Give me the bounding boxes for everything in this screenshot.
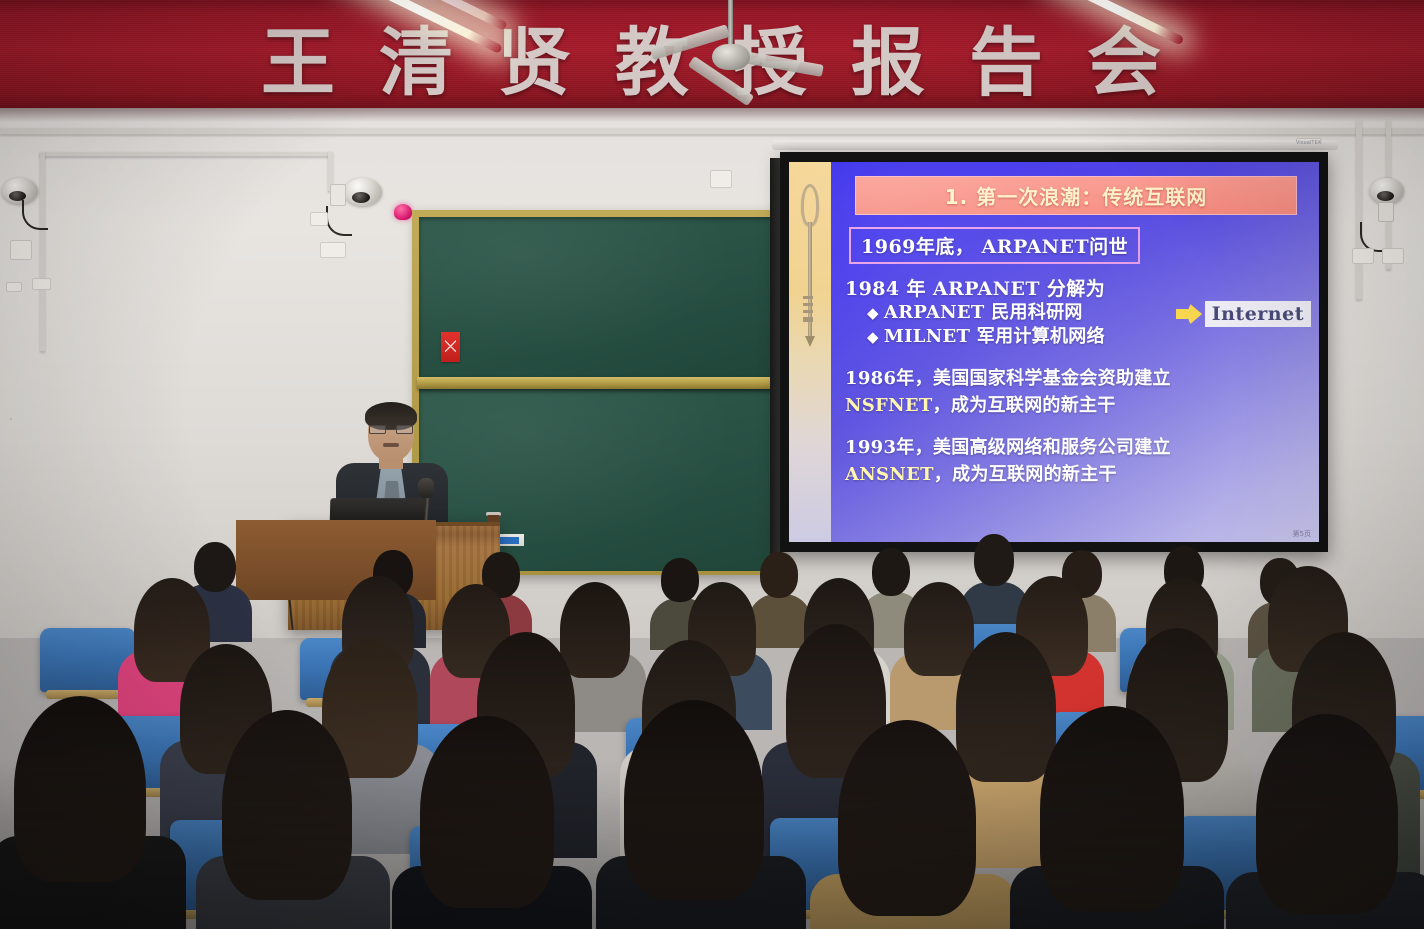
wall-outlet-right-1 bbox=[1352, 248, 1374, 264]
list-item bbox=[392, 716, 592, 929]
slide-paragraph-1: 1986年，美国国家科学基金会资助建立 NSFNET，成为互联网的新主干 bbox=[845, 364, 1307, 417]
list-item bbox=[596, 700, 806, 929]
fire-alarm-indicator bbox=[394, 204, 412, 220]
fan-hub bbox=[712, 44, 750, 70]
internet-label: Internet bbox=[1205, 301, 1311, 327]
key-ring bbox=[801, 184, 819, 226]
camera-cable-left bbox=[22, 200, 48, 230]
antique-key-icon bbox=[800, 184, 820, 354]
wall-outlet-left-2 bbox=[6, 282, 22, 292]
dome-camera-left bbox=[0, 178, 70, 248]
fan-blade-2 bbox=[737, 50, 824, 77]
paragraph-2-line-1: 1993年，美国高级网络和服务公司建立 bbox=[845, 433, 1307, 459]
glasses-bridge bbox=[386, 429, 396, 430]
paragraph-1-line-1: 1986年，美国国家科学基金会资助建立 bbox=[845, 364, 1307, 390]
audience-hair bbox=[838, 720, 976, 916]
list-item bbox=[196, 710, 390, 929]
slide-boxed-statement: 1969年底， ARPANET问世 bbox=[849, 227, 1140, 264]
slide-section-1: 1984 年 ARPANET 分解为 ◆ARPANET 民用科研网 ◆MILNE… bbox=[845, 277, 1307, 348]
slide-sidebar-decoration bbox=[789, 162, 831, 542]
fan-rod bbox=[728, 0, 733, 48]
key-teeth bbox=[803, 296, 813, 322]
chalkboard-divider-rail bbox=[417, 377, 777, 389]
wall-outlet-left bbox=[32, 278, 51, 290]
wall-shadow bbox=[0, 108, 1424, 122]
section-1-bullet-2-text: MILNET 军用计算机网络 bbox=[884, 326, 1105, 347]
list-item bbox=[1226, 714, 1424, 929]
camera-mount-cl bbox=[330, 184, 346, 206]
section-1-bullet-1-text: ARPANET 民用科研网 bbox=[884, 302, 1083, 323]
slide-paragraph-2: 1993年，美国高级网络和服务公司建立 ANSNET，成为互联网的新主干 bbox=[845, 433, 1307, 486]
banner-char-3: 贤 bbox=[497, 3, 573, 110]
lecture-hall-photo: 王 清 贤 教 授 报 告 会 bbox=[0, 0, 1424, 929]
section-1-heading: 1984 年 ARPANET 分解为 bbox=[845, 277, 1307, 301]
key-tip bbox=[805, 336, 815, 347]
wall-outlet-right-2 bbox=[1382, 248, 1404, 264]
conduit-pipe-vertical-right-1 bbox=[1356, 120, 1362, 300]
ceiling-fan bbox=[640, 0, 820, 110]
key-shaft bbox=[808, 222, 812, 342]
paragraph-1-rest: ，成为互联网的新主干 bbox=[933, 395, 1116, 416]
internet-callout: Internet bbox=[1176, 301, 1311, 327]
paragraph-1-line-2: NSFNET，成为互联网的新主干 bbox=[845, 391, 1307, 417]
audience-hair bbox=[1256, 714, 1398, 914]
banner-char-1: 王 bbox=[261, 3, 337, 110]
audience-hair bbox=[222, 710, 352, 900]
wall-switch-panel bbox=[710, 170, 732, 188]
audience-hair bbox=[420, 716, 554, 908]
list-item bbox=[810, 720, 1016, 929]
slide-content: 1. 第一次浪潮：传统互联网 1969年底， ARPANET问世 1984 年 … bbox=[831, 162, 1319, 542]
audience-hair bbox=[624, 700, 764, 900]
banner-char-7: 告 bbox=[969, 3, 1045, 110]
arrow-stem bbox=[1176, 309, 1189, 319]
paragraph-1-highlight: NSFNET bbox=[845, 395, 933, 416]
camera-lens-right bbox=[1377, 191, 1394, 201]
list-item bbox=[0, 696, 186, 929]
projector-screen-roller bbox=[772, 140, 1338, 150]
list-item bbox=[1010, 706, 1224, 929]
audience-hair bbox=[14, 696, 146, 882]
wall-junction-box-left bbox=[10, 240, 32, 260]
glasses-lens-right bbox=[396, 425, 413, 434]
camera-cable-cl bbox=[326, 206, 352, 236]
paragraph-2-rest: ，成为互联网的新主干 bbox=[934, 464, 1117, 485]
section-1-bullet-2: ◆MILNET 军用计算机网络 bbox=[867, 325, 1307, 348]
conduit-pipe-branch bbox=[40, 152, 332, 157]
bullet-glyph-1: ◆ bbox=[867, 304, 879, 322]
banner-char-6: 报 bbox=[851, 3, 927, 110]
wall-outlet-center bbox=[310, 212, 328, 226]
chalkboard-panel-top bbox=[419, 217, 775, 377]
red-warning-sticker bbox=[441, 332, 460, 362]
camera-mount-right bbox=[1378, 202, 1394, 222]
slide-title-bar: 1. 第一次浪潮：传统互联网 bbox=[855, 176, 1297, 215]
camera-lens-cl bbox=[352, 192, 370, 203]
audience-hair bbox=[1040, 706, 1184, 912]
slide-title: 1. 第一次浪潮：传统互联网 bbox=[862, 181, 1290, 210]
bullet-glyph-2: ◆ bbox=[867, 328, 879, 346]
projector-brand-label: VisualTEK bbox=[1296, 140, 1408, 146]
wall-plate-center bbox=[320, 242, 346, 258]
presentation-slide: 1. 第一次浪潮：传统互联网 1969年底， ARPANET问世 1984 年 … bbox=[789, 162, 1319, 542]
paragraph-2-highlight: ANSNET bbox=[845, 464, 934, 485]
arrow-head bbox=[1188, 302, 1202, 326]
chalkboard-surface bbox=[419, 217, 775, 568]
screen-surface: 1. 第一次浪潮：传统互联网 1969年底， ARPANET问世 1984 年 … bbox=[789, 162, 1319, 542]
presenter-glasses bbox=[369, 425, 413, 434]
presenter-mouth bbox=[383, 443, 399, 447]
boxed-statement-text: 1969年底， ARPANET问世 bbox=[861, 232, 1128, 259]
camera-mount-left bbox=[10, 418, 12, 420]
event-banner: 王 清 贤 教 授 报 告 会 bbox=[0, 0, 1424, 110]
microphone-head bbox=[418, 478, 434, 498]
projection-screen[interactable]: 1. 第一次浪潮：传统互联网 1969年底， ARPANET问世 1984 年 … bbox=[780, 152, 1328, 552]
glasses-lens-left bbox=[369, 425, 386, 434]
seated-audience bbox=[0, 520, 1424, 929]
paragraph-2-line-2: ANSNET，成为互联网的新主干 bbox=[845, 460, 1307, 486]
conduit-pipe-horizontal bbox=[0, 128, 1424, 135]
right-arrow-icon bbox=[1176, 302, 1202, 326]
